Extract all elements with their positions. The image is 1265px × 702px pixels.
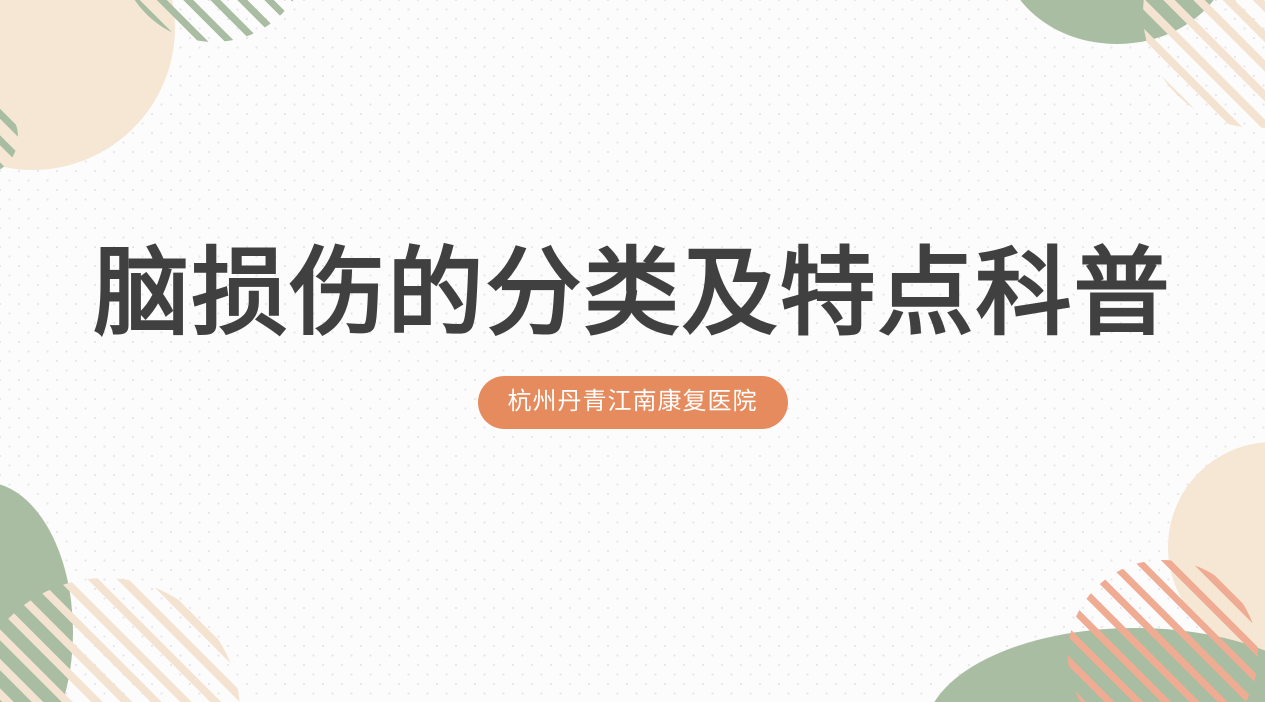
- page-title: 脑损伤的分类及特点科普: [94, 241, 1172, 347]
- slide-canvas: 脑损伤的分类及特点科普 杭州丹青江南康复医院: [0, 0, 1265, 702]
- slide-content: 脑损伤的分类及特点科普 杭州丹青江南康复医院: [0, 0, 1265, 702]
- organization-badge: 杭州丹青江南康复医院: [478, 376, 788, 429]
